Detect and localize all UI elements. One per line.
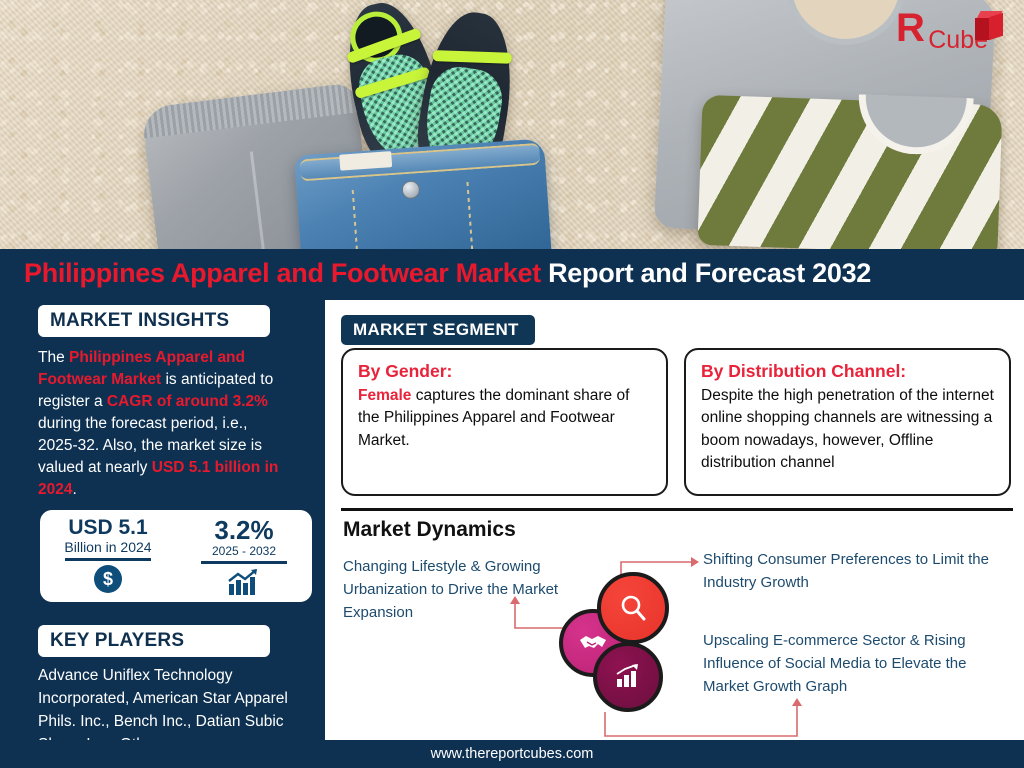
- dollar-coin-icon: $: [94, 565, 122, 593]
- stat-divider: [65, 558, 151, 561]
- infographic-root: Я Cube Philippines Apparel and Footwear …: [0, 0, 1024, 768]
- segment-card-body: Female captures the dominant share of th…: [358, 385, 653, 452]
- left-column: MARKET INSIGHTS The Philippines Apparel …: [8, 297, 320, 768]
- segment-card-distribution-channel: By Distribution Channel: Despite the hig…: [684, 348, 1011, 496]
- insight-part-accent: CAGR of around 3.2%: [107, 393, 268, 410]
- title-rest: Report and Forecast 2032: [541, 258, 871, 288]
- market-segment-badge: MARKET SEGMENT: [341, 315, 535, 345]
- segment-lead: Female: [358, 387, 411, 404]
- market-insights-badge: MARKET INSIGHTS: [38, 305, 270, 337]
- market-size-sub: Billion in 2024: [64, 539, 151, 555]
- footer-url[interactable]: www.thereportcubes.com: [431, 746, 594, 762]
- bar-chart-glyph: [614, 664, 642, 690]
- jeans-button: [401, 180, 420, 199]
- denim-jeans-item: [294, 138, 552, 249]
- key-players-badge: KEY PLAYERS: [38, 625, 270, 657]
- bar-chart-icon: [593, 642, 663, 712]
- market-insights-badge-label: MARKET INSIGHTS: [50, 310, 229, 331]
- segment-card-heading: By Distribution Channel:: [701, 361, 996, 382]
- stat-cagr: 3.2% 2025 - 2032: [176, 510, 312, 602]
- striped-tee-item: [697, 95, 1002, 249]
- insight-part: The: [38, 349, 69, 366]
- tee-neckline: [857, 94, 974, 156]
- search-icon: [597, 572, 669, 644]
- dynamics-icon-cluster: [555, 572, 695, 722]
- footer-bar: www.thereportcubes.com: [0, 740, 1024, 768]
- stat-divider: [201, 561, 287, 564]
- stats-card: USD 5.1 Billion in 2024 $ 3.2% 2025 - 20…: [40, 510, 312, 602]
- cube-icon: [974, 11, 1006, 43]
- segment-cards: By Gender: Female captures the dominant …: [341, 348, 1011, 496]
- segment-card-heading: By Gender:: [358, 361, 653, 382]
- segment-body-text: Despite the high penetration of the inte…: [701, 387, 994, 471]
- tank-neckline: [782, 0, 905, 48]
- growth-chart-icon: [227, 568, 261, 596]
- right-panel: MARKET SEGMENT By Gender: Female capture…: [325, 300, 1024, 740]
- segment-card-gender: By Gender: Female captures the dominant …: [341, 348, 668, 496]
- jeans-seam: [352, 190, 359, 249]
- market-segment-badge-label: MARKET SEGMENT: [353, 320, 519, 339]
- sneaker-strap: [433, 50, 512, 64]
- key-players-section: KEY PLAYERS Advance Uniflex Technology I…: [8, 617, 320, 757]
- cagr-period: 2025 - 2032: [212, 544, 276, 558]
- stat-market-size: USD 5.1 Billion in 2024 $: [40, 510, 176, 602]
- magnifier-glyph: [618, 593, 648, 623]
- market-size-value: USD 5.1: [68, 517, 147, 539]
- key-players-badge-label: KEY PLAYERS: [50, 630, 184, 651]
- jeans-seam: [466, 182, 473, 249]
- title-highlight: Philippines Apparel and Footwear Market: [24, 258, 541, 288]
- insight-part: .: [72, 481, 76, 498]
- left-edge-strip: [0, 297, 8, 768]
- cagr-value: 3.2%: [214, 517, 273, 544]
- logo-mark-icon: Я: [896, 10, 925, 46]
- page-title: Philippines Apparel and Footwear Market …: [24, 258, 871, 289]
- hero-photo: [0, 0, 1024, 249]
- segment-card-body: Despite the high penetration of the inte…: [701, 385, 996, 475]
- market-insights-body: The Philippines Apparel and Footwear Mar…: [38, 347, 290, 501]
- title-bar: Philippines Apparel and Footwear Market …: [0, 249, 1024, 297]
- brand-logo[interactable]: Я Cube: [896, 10, 1006, 55]
